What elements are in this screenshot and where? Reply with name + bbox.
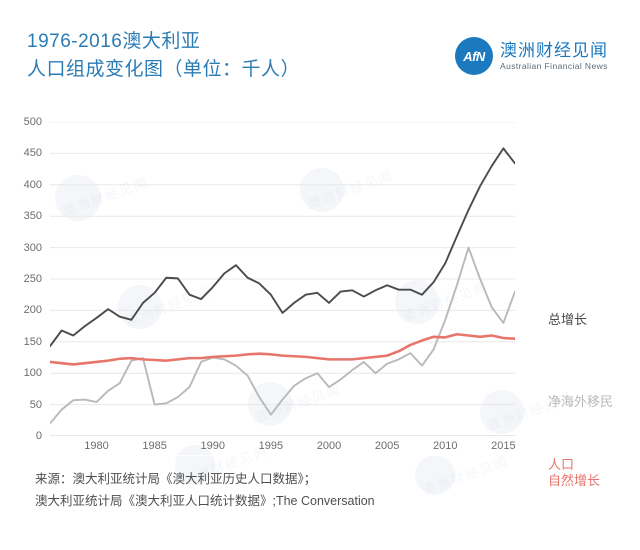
y-axis-tick-label: 400	[8, 179, 42, 191]
brand-name-en: Australian Financial News	[500, 60, 608, 72]
footer-divider	[0, 455, 640, 456]
series-label-total-growth: 总增长	[548, 312, 587, 328]
source-note: 来源：澳大利亚统计局《澳大利亚历史人口数据》； 澳大利亚统计局《澳大利亚人口统计…	[35, 468, 595, 512]
line-chart: 050100150200250300350400450500 198019851…	[0, 104, 640, 449]
y-axis-tick-label: 50	[8, 399, 42, 411]
x-axis-tick-label: 1990	[193, 440, 233, 452]
brand-logo: AfN 澳洲财经见闻 Australian Financial News	[455, 37, 608, 75]
x-axis-tick-label: 1985	[135, 440, 175, 452]
page-title: 1976-2016澳大利亚 人口组成变化图（单位：千人）	[27, 28, 300, 84]
y-axis-tick-label: 100	[8, 367, 42, 379]
series-line-2	[50, 334, 515, 364]
x-axis-tick-label: 2010	[425, 440, 465, 452]
y-axis-tick-label: 150	[8, 336, 42, 348]
y-axis-tick-label: 500	[8, 116, 42, 128]
x-axis-tick-label: 2000	[309, 440, 349, 452]
y-axis-tick-label: 250	[8, 273, 42, 285]
x-axis-tick-label: 2005	[367, 440, 407, 452]
y-axis-tick-label: 350	[8, 210, 42, 222]
series-line-1	[50, 248, 515, 424]
brand-text: 澳洲财经见闻 Australian Financial News	[500, 41, 608, 72]
x-axis-tick-label: 2015	[483, 440, 523, 452]
x-axis-tick-label: 1980	[77, 440, 117, 452]
y-axis-tick-label: 300	[8, 242, 42, 254]
x-axis-tick-label: 1995	[251, 440, 291, 452]
plot-area	[50, 122, 515, 436]
y-axis-tick-label: 450	[8, 147, 42, 159]
chart-canvas	[50, 122, 515, 436]
chart-page: 澳洲财经见闻 澳洲财经见闻 澳洲财经见闻 澳洲财经见闻 澳洲财经见闻 澳洲财经见…	[0, 0, 640, 550]
header: 1976-2016澳大利亚 人口组成变化图（单位：千人） AfN 澳洲财经见闻 …	[0, 0, 640, 100]
series-label-net-overseas-migration: 净海外移民	[548, 394, 613, 410]
afn-logo-icon: AfN	[455, 37, 493, 75]
brand-name-cn: 澳洲财经见闻	[500, 41, 608, 60]
y-axis-tick-label: 0	[8, 430, 42, 442]
y-axis-tick-label: 200	[8, 304, 42, 316]
